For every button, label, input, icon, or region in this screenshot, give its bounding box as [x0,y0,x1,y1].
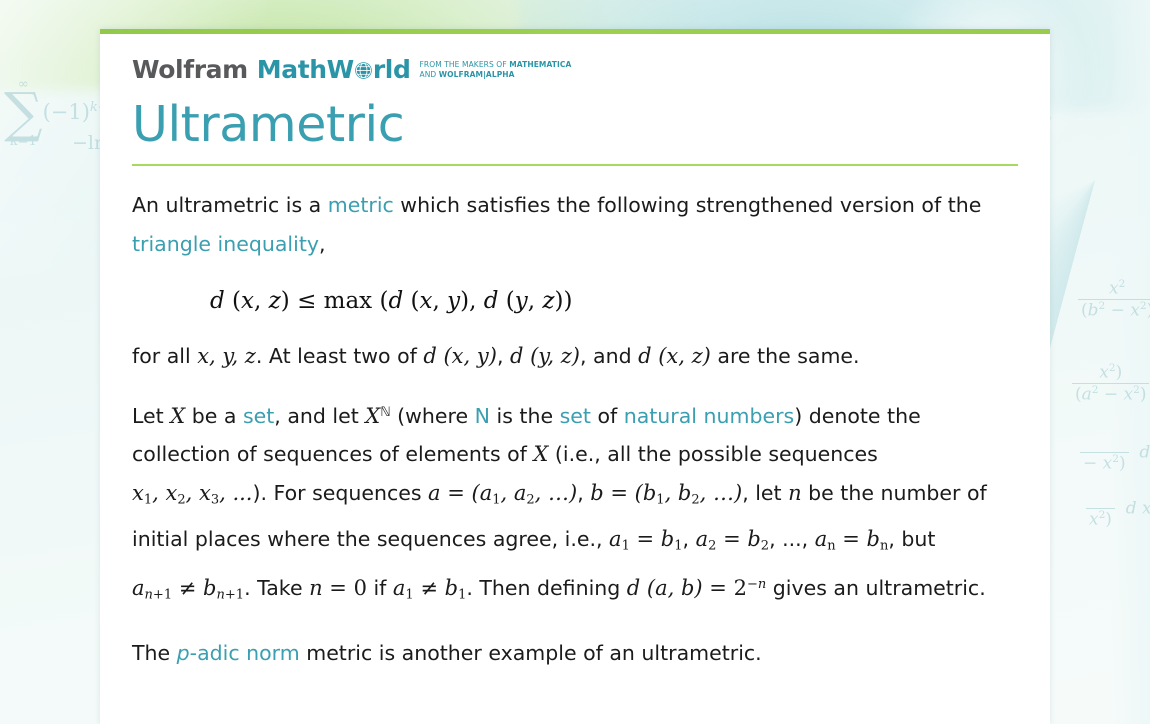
link-natural-numbers-N[interactable]: N [475,404,490,428]
paragraph-sequences: Let X be a set, and let Xℕ (where N is t… [132,394,1018,615]
p3-a1-neq-b1: a1 ≠ b1 [393,576,466,600]
article-body: An ultrametric is a metric which satisfi… [132,186,1018,672]
title-divider [132,164,1018,166]
p3-text-13: , [683,527,696,551]
link-natural-numbers[interactable]: natural numbers [624,404,794,428]
p2-text-5: are the same. [711,344,860,368]
p3-text-3: , and let [274,404,365,428]
p3-text-8: (i.e., all the possible sequences [548,442,877,466]
p2-text-4: , and [580,344,638,368]
paragraph-for-all: for all x, y, z. At least two of d (x, y… [132,337,1018,376]
p3-text-14: , ..., [769,527,815,551]
p2-expr-3: d (x, z) [638,344,711,368]
p4-text-1: The [132,641,177,665]
p3-set-X-1: X [170,404,185,428]
logo-tagline: FROM THE MAKERS OF MATHEMATICA AND WOLFR… [419,60,571,80]
p3-X-base: X [365,404,380,428]
tagline-line-1: FROM THE MAKERS OF MATHEMATICA [419,60,571,69]
p3-text-11: , let [742,481,788,505]
background-edge-right [1110,0,1150,724]
p3-sequence-x: x1, x2, x3, ... [132,481,252,505]
p3-text-6: of [591,404,624,428]
page-root: ∞ ∑ k=1 (−1)k−1 −ln x2 (b2 − x2) d x x2)… [0,0,1150,724]
globe-icon [354,58,373,77]
p3-set-X-2: X [533,442,548,466]
logo-world-suffix: rld [373,56,411,84]
p3-text-2: be a [185,404,243,428]
p2-text-1: for all [132,344,197,368]
p3-text-18: . Then defining [466,576,626,600]
logo-math-word: Math [257,56,327,84]
tagline-mathematica: MATHEMATICA [509,60,571,69]
p3-X-power-N: Xℕ [365,404,390,428]
p3-N-superscript: ℕ [380,405,390,420]
p1-text-2: which satisfies the following strengthen… [394,193,982,217]
p2-expr-1: d (x, y) [423,344,497,368]
p3-agree-1: a1 = b1 [609,527,682,551]
tagline-line-2: AND WOLFRAM|ALPHA [419,70,514,79]
p3-text-16: . Take [244,576,309,600]
tagline-line-2-light: AND [419,70,438,79]
display-equation-ultrametric: d (x, z) ≤ max (d (x, y), d (y, z)) [210,282,1018,321]
equation-lhs-d: d [210,288,225,314]
p3-text-4: (where [391,404,475,428]
p3-var-n-1: n [788,481,802,505]
link-set-2[interactable]: set [560,404,591,428]
link-triangle-inequality[interactable]: triangle inequality [132,232,319,256]
logo-wolfram-text: Wolfram [132,56,248,84]
p3-text-19: gives an ultrametric. [766,576,985,600]
p2-expr-2: d (y, z) [510,344,580,368]
p3-definition-d: d (a, b) = 2−n [627,576,766,600]
page-title: Ultrametric [132,96,1018,154]
p3-sequence-b: b = (b1, b2, …) [590,481,742,505]
link-set-1[interactable]: set [243,404,274,428]
link-p-adic-rest: -adic norm [190,641,300,665]
site-logo[interactable]: Wolfram MathW rld FROM THE [132,56,1018,86]
p3-text-10: , [577,481,590,505]
p3-agree-2: a2 = b2 [696,527,769,551]
tagline-wolframalpha: WOLFRAM|ALPHA [439,70,515,79]
equation-lhs-args: (x, z) [225,288,290,314]
link-p-adic-norm[interactable]: p-adic norm [177,641,300,665]
tagline-line-1-light: FROM THE MAKERS OF [419,60,509,69]
link-metric[interactable]: metric [328,193,394,217]
p4-text-2: metric is another example of an ultramet… [300,641,762,665]
p3-agree-n: an = bn [815,527,889,551]
equation-relation: ≤ [297,288,316,314]
p2-text-3: , [497,344,510,368]
p3-n-equals-zero: n = 0 [309,576,367,600]
p3-sequence-a: a = (a1, a2, …) [428,481,577,505]
p3-text-1: Let [132,404,170,428]
p2-variables: x, y, z [197,344,256,368]
p1-text-3: , [319,232,326,256]
p3-not-equal-n-plus-1: an+1 ≠ bn+1 [132,576,244,600]
p2-text-2: . At least two of [256,344,424,368]
p3-text-9: ). For sequences [252,481,428,505]
p3-text-5: is the [490,404,560,428]
p3-text-17: if [367,576,393,600]
paragraph-p-adic: The p-adic norm metric is another exampl… [132,634,1018,673]
link-p-adic-italic-p: p [177,641,190,665]
equation-rhs: (d (x, y), d (y, z)) [372,288,572,314]
logo-mathworld-text: MathW rld [257,56,411,84]
content-card: Wolfram MathW rld FROM THE [100,29,1050,724]
paragraph-definition: An ultrametric is a metric which satisfi… [132,186,1018,263]
equation-max-label: max [324,288,373,314]
card-inner: Wolfram MathW rld FROM THE [100,34,1050,672]
logo-world-prefix: W [327,56,354,84]
p1-text-1: An ultrametric is a [132,193,328,217]
p3-text-15: , but [888,527,935,551]
